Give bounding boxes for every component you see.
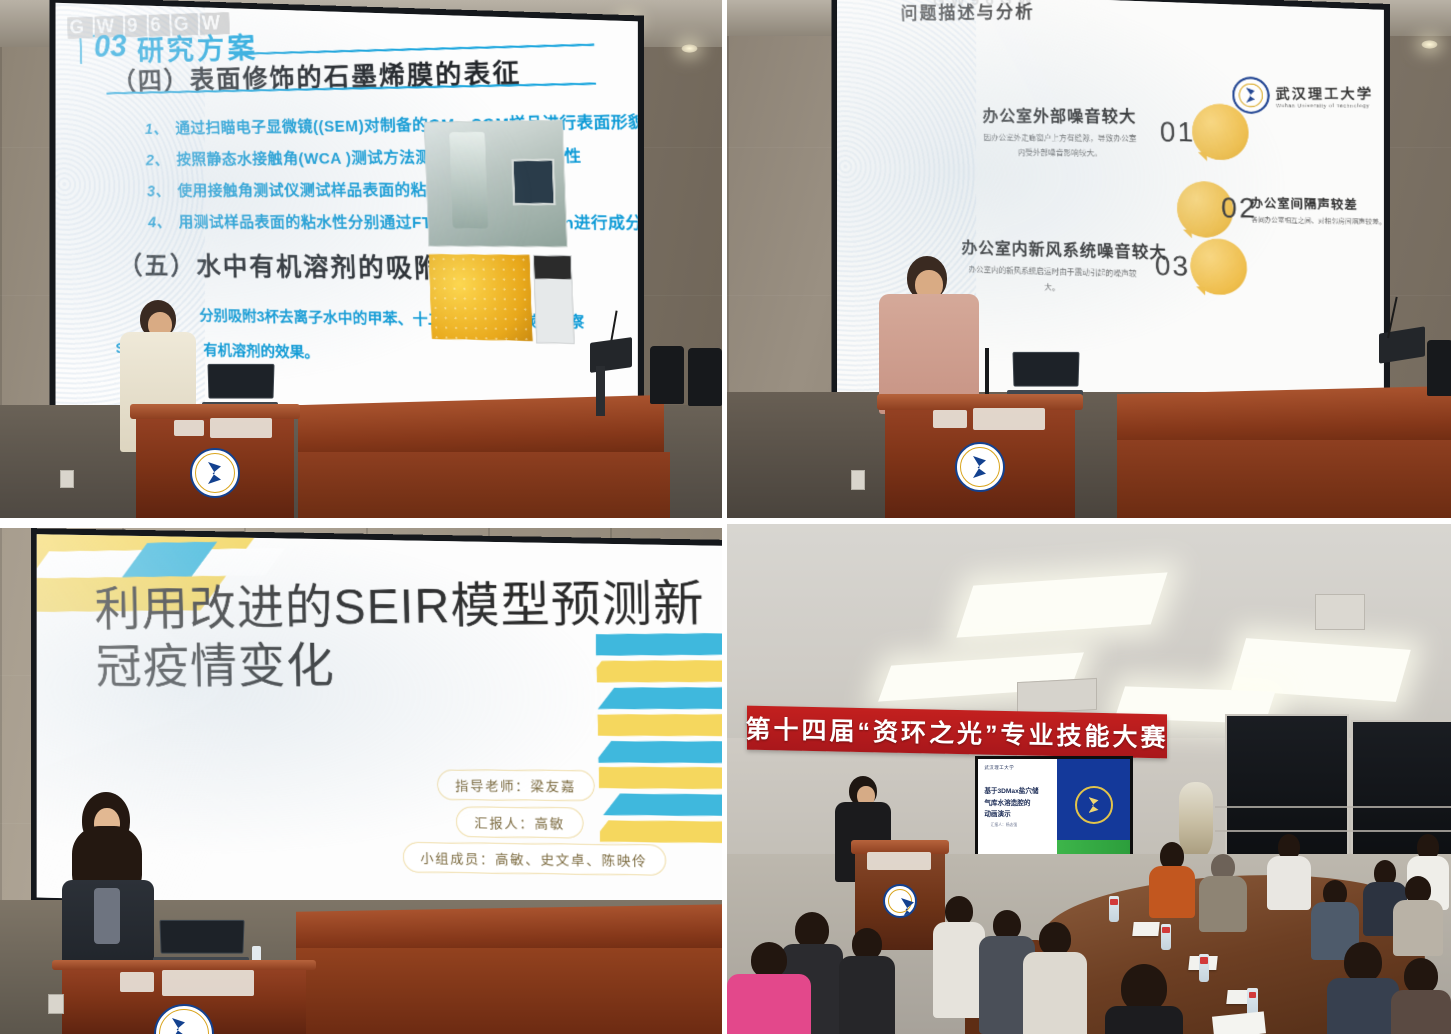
tv-screen: 武汉理工大学 基于3DMax盐穴储 气库水溶造腔的 动画演示 汇报人：杨志强 bbox=[978, 759, 1130, 863]
head bbox=[1039, 922, 1071, 956]
tv-presenter-line: 汇报人：杨志强 bbox=[991, 823, 1018, 828]
name-card bbox=[1132, 922, 1159, 936]
monitor-shape bbox=[511, 158, 556, 205]
laptop bbox=[208, 364, 272, 408]
slide-title: 利用改进的SEIR模型预测新冠疫情变化 bbox=[94, 572, 722, 695]
head bbox=[751, 942, 787, 978]
water-bottle bbox=[1109, 896, 1119, 922]
advisor-pill: 指导老师：梁友嘉 bbox=[437, 769, 595, 801]
torso bbox=[1391, 990, 1451, 1034]
university-name-en: Wuhan University of Technology bbox=[1276, 103, 1374, 109]
water-bottle bbox=[1199, 954, 1209, 982]
analysis-item-03: 办公室内新风系统噪音较大 办公室内的新风系统启运时由于震动引起的噪声较大。 bbox=[961, 236, 1144, 298]
chair bbox=[688, 348, 722, 406]
ac-vent-icon bbox=[1315, 594, 1365, 630]
item-number-03: 03 bbox=[1154, 249, 1190, 283]
laptop bbox=[1013, 352, 1077, 396]
tv-slide-right bbox=[1057, 759, 1130, 863]
torso bbox=[1199, 876, 1247, 932]
bubble-icon-03 bbox=[1189, 238, 1247, 296]
judge-person bbox=[1199, 854, 1247, 930]
laptop-screen bbox=[207, 364, 274, 399]
laptop bbox=[160, 920, 242, 962]
chair bbox=[1427, 340, 1451, 396]
long-desk-front bbox=[296, 948, 722, 1034]
analysis-item-02: 办公室间隔声较差 各间办公室相互之间、对相邻房间隔声较差。 bbox=[1251, 194, 1384, 231]
podium-emblem-plate bbox=[174, 420, 204, 436]
university-seal-icon bbox=[1231, 77, 1269, 114]
photo-panel-top-left: GW96GW 03 研究方案 （四）表面修饰的石墨烯膜的表征 1、 通过扫瞄电子… bbox=[0, 0, 722, 518]
tv-title-line-3: 动画演示 bbox=[984, 809, 1038, 821]
podium bbox=[136, 404, 294, 518]
tv-logo-text: 武汉理工大学 bbox=[984, 765, 1014, 771]
podium-logo-icon bbox=[955, 442, 1005, 492]
podium-emblem-plate bbox=[120, 972, 154, 992]
podium bbox=[885, 394, 1075, 518]
bullet-text: 用测试样品表面的粘水性分别通过FTIR、XRD和Raman进行成分表征。 bbox=[178, 215, 637, 233]
tv-title-line-1: 基于3DMax盐穴储 bbox=[984, 786, 1038, 798]
bubble-icon-01 bbox=[1191, 104, 1249, 160]
tv-slide-left: 武汉理工大学 基于3DMax盐穴储 气库水溶造腔的 动画演示 汇报人：杨志强 bbox=[978, 759, 1057, 863]
lectern-stand bbox=[596, 366, 605, 416]
event-banner: 第十四届“资环之光”专业技能大赛 bbox=[747, 706, 1167, 759]
item-heading: 办公室内新风系统噪音较大 bbox=[961, 236, 1143, 263]
podium-name-plate bbox=[973, 408, 1045, 430]
ac-vent-icon bbox=[1017, 678, 1097, 714]
sem-instrument-photo bbox=[424, 120, 567, 248]
gold-sample-photo bbox=[429, 254, 532, 341]
torso bbox=[1105, 1006, 1183, 1034]
bullet-index: 2、 bbox=[146, 152, 170, 169]
photo-panel-bottom-right: 第十四届“资环之光”专业技能大赛 武汉理工大学 基于3DMax盐穴储 气库水溶造… bbox=[727, 524, 1451, 1034]
audience-person bbox=[727, 942, 811, 1034]
item-heading: 办公室间隔声较差 bbox=[1251, 194, 1384, 214]
bullet-index: 4、 bbox=[148, 215, 172, 232]
slide-title: 问题描述与分析 bbox=[900, 0, 1035, 25]
lecture-hall-room-1: GW96GW 03 研究方案 （四）表面修饰的石墨烯膜的表征 1、 通过扫瞄电子… bbox=[0, 0, 722, 518]
item-body: 办公室内的新风系统启运时由于震动引起的噪声较大。 bbox=[962, 263, 1144, 298]
item-body: 因办公室外走廊窗户上方有缝隙，导致办公室内受外部噪音影响较大。 bbox=[981, 131, 1141, 162]
tv-university-seal-icon bbox=[1075, 786, 1113, 824]
item-number-01: 01 bbox=[1159, 115, 1195, 148]
photo-panel-top-right: GW96GW 问题描述与分析 武汉理工大学 Wuhan University o… bbox=[727, 0, 1451, 518]
head bbox=[1404, 958, 1438, 994]
podium-logo-icon bbox=[190, 448, 240, 498]
inner-top bbox=[94, 888, 120, 944]
water-bottle bbox=[1161, 924, 1171, 950]
members-pill: 小组成员：高敏、史文卓、陈映伶 bbox=[402, 842, 666, 876]
item-body: 各间办公室相互之间、对相邻房间隔声较差。 bbox=[1251, 215, 1384, 230]
long-desk-front bbox=[298, 452, 670, 518]
section-number: 03 bbox=[93, 28, 127, 64]
long-desk-front bbox=[1117, 440, 1451, 518]
item-heading: 办公室外部噪音较大 bbox=[980, 104, 1140, 128]
audience-person bbox=[839, 928, 895, 1034]
downlight-icon bbox=[681, 44, 698, 53]
sample-vial-photo bbox=[533, 255, 574, 345]
podium-logo-icon bbox=[883, 884, 917, 918]
audience-person bbox=[1391, 958, 1451, 1034]
podium-name-plate bbox=[867, 852, 931, 870]
podium-top bbox=[52, 960, 316, 970]
torso bbox=[1327, 978, 1399, 1034]
podium-emblem-plate bbox=[933, 410, 967, 428]
audience-person bbox=[1105, 964, 1183, 1034]
wall-socket-icon bbox=[60, 470, 74, 488]
podium-logo-icon bbox=[154, 1004, 214, 1034]
tv-display: 武汉理工大学 基于3DMax盐穴储 气库水溶造腔的 动画演示 汇报人：杨志强 bbox=[975, 756, 1133, 866]
bullet-index: 1、 bbox=[144, 121, 168, 138]
torso bbox=[933, 922, 985, 1018]
audience-person bbox=[933, 896, 985, 1016]
chair bbox=[650, 346, 684, 404]
laptop-screen bbox=[1012, 352, 1079, 387]
banner-text: 第十四届“资环之光”专业技能大赛 bbox=[746, 710, 1169, 755]
podium-name-plate bbox=[210, 418, 272, 438]
torso bbox=[1023, 952, 1087, 1034]
podium bbox=[62, 960, 306, 1034]
podium-name-plate bbox=[162, 970, 254, 996]
microphone bbox=[985, 348, 989, 394]
downlight-icon bbox=[1421, 40, 1438, 49]
wall-socket-icon bbox=[48, 994, 64, 1014]
railing bbox=[1215, 806, 1451, 832]
audience-person bbox=[1393, 876, 1443, 954]
audience-person bbox=[1327, 942, 1399, 1034]
head bbox=[1344, 942, 1382, 982]
university-name-cn: 武汉理工大学 bbox=[1275, 82, 1373, 103]
torso bbox=[1149, 866, 1195, 918]
torso-pink bbox=[727, 974, 811, 1034]
laptop-screen bbox=[159, 920, 244, 954]
photo-collage: GW96GW 03 研究方案 （四）表面修饰的石墨烯膜的表征 1、 通过扫瞄电子… bbox=[0, 0, 1451, 1034]
tv-title: 基于3DMax盐穴储 气库水溶造腔的 动画演示 bbox=[984, 786, 1038, 821]
competition-room: 第十四届“资环之光”专业技能大赛 武汉理工大学 基于3DMax盐穴储 气库水溶造… bbox=[727, 524, 1451, 1034]
bullet-text: 通过扫瞄电子显微镜((SEM)对制备的GM、SGM样品进行表面形貌表征。 bbox=[175, 113, 638, 137]
podium-top bbox=[130, 404, 301, 419]
photo-panel-bottom-left: 利用改进的SEIR模型预测新冠疫情变化 指导老师：梁友嘉 汇报人：高敏 小组成员… bbox=[0, 528, 722, 1034]
tv-title-line-2: 气库水溶造腔的 bbox=[984, 798, 1038, 810]
university-name-block: 武汉理工大学 Wuhan University of Technology bbox=[1275, 82, 1373, 108]
head bbox=[1121, 964, 1167, 1012]
torso bbox=[839, 956, 895, 1034]
judge-person bbox=[1267, 834, 1311, 908]
lecture-hall-room-2: GW96GW 问题描述与分析 武汉理工大学 Wuhan University o… bbox=[727, 0, 1451, 518]
bullet-index: 3、 bbox=[147, 183, 171, 200]
analysis-item-01: 办公室外部噪音较大 因办公室外走廊窗户上方有缝隙，导致办公室内受外部噪音影响较大… bbox=[980, 104, 1141, 162]
wall-socket-icon bbox=[851, 470, 865, 490]
judge-person bbox=[1149, 842, 1195, 914]
university-logo: 武汉理工大学 Wuhan University of Technology bbox=[1231, 76, 1374, 114]
audience-person bbox=[1023, 922, 1087, 1034]
presenter-pill: 汇报人：高敏 bbox=[456, 806, 584, 838]
torso bbox=[1267, 856, 1311, 910]
bullet-text: 使用接触角测试仪测试样品表面的粘水性 bbox=[177, 182, 459, 200]
lecture-hall-room-3: 利用改进的SEIR模型预测新冠疫情变化 指导老师：梁友嘉 汇报人：高敏 小组成员… bbox=[0, 528, 722, 1034]
torso bbox=[1393, 900, 1443, 956]
